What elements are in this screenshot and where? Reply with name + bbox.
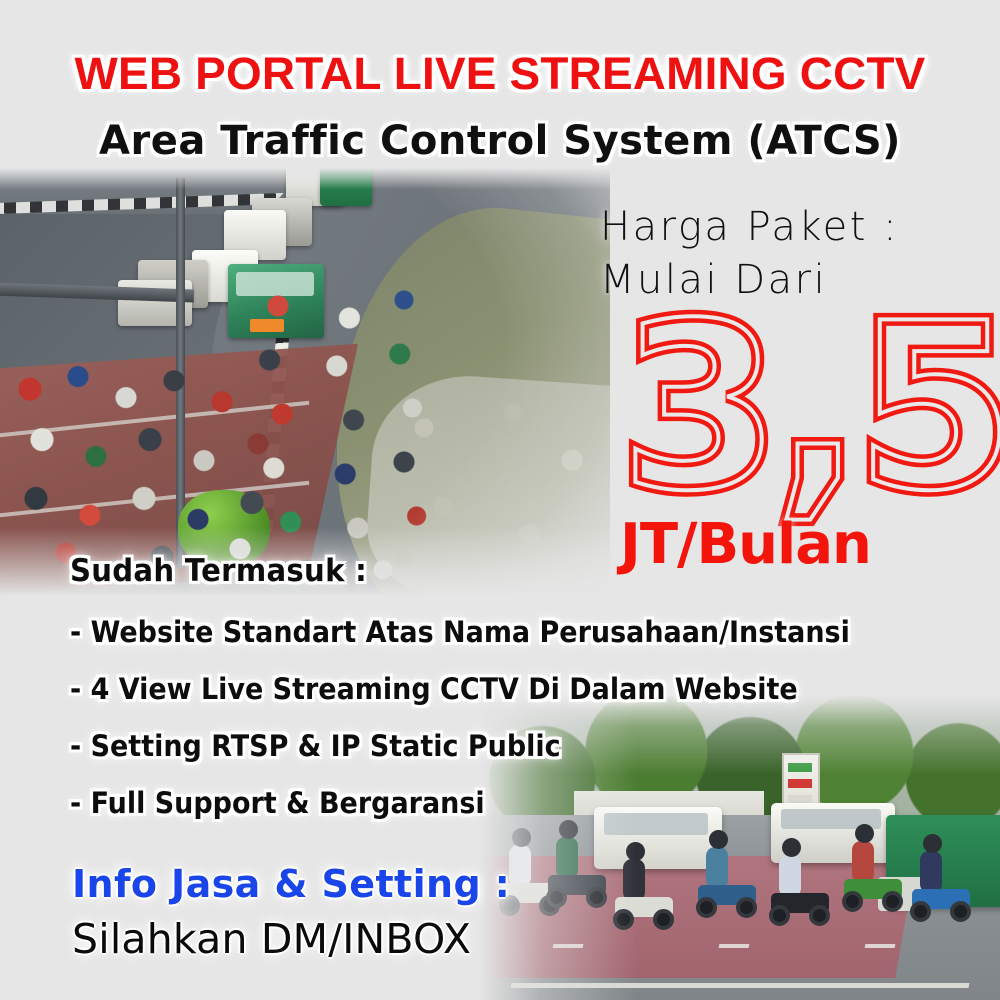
motorcycle-cluster-queue xyxy=(236,288,446,588)
poster-canvas: WEB PORTAL LIVE STREAMING CCTV Area Traf… xyxy=(0,0,1000,1000)
included-title: Sudah Termasuk : xyxy=(70,553,367,589)
list-item: - Website Standart Atas Nama Perusahaan/… xyxy=(70,612,907,669)
vehicle-truck xyxy=(320,168,372,206)
price-amount: 3,5 xyxy=(620,296,960,521)
photo-scene xyxy=(0,168,610,596)
stop-line xyxy=(511,983,969,988)
list-item: - Full Support & Bergaransi xyxy=(70,783,907,840)
cta-instruction: Silahkan DM/INBOX xyxy=(72,915,471,963)
aerial-traffic-queue-photo xyxy=(0,168,610,596)
included-list: - Website Standart Atas Nama Perusahaan/… xyxy=(70,612,970,840)
list-item: - 4 View Live Streaming CCTV Di Dalam We… xyxy=(70,669,907,726)
lane-marking xyxy=(552,944,583,948)
lane-marking xyxy=(864,944,895,948)
list-item: - Setting RTSP & IP Static Public xyxy=(70,726,907,783)
price-unit: JT/Bulan xyxy=(620,512,1000,577)
price-label-line1: Harga Paket : xyxy=(600,206,1000,249)
page-subheadline: Area Traffic Control System (ATCS) xyxy=(0,118,1000,164)
cta-heading: Info Jasa & Setting : xyxy=(72,862,510,906)
lane-marking xyxy=(719,944,750,948)
page-headline: WEB PORTAL LIVE STREAMING CCTV xyxy=(0,48,1000,100)
